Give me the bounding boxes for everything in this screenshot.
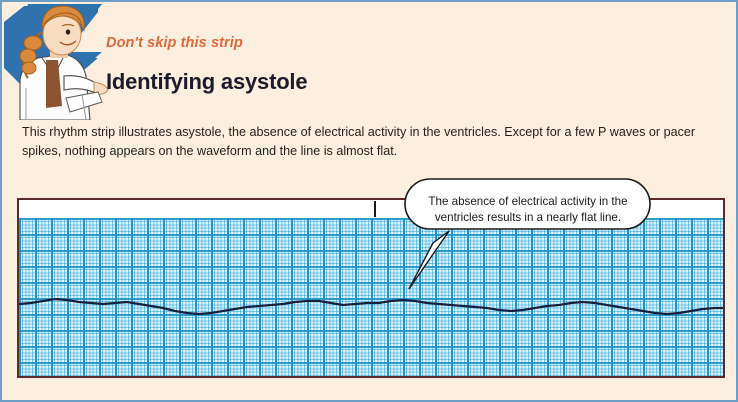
callout-text: The absence of electrical activity in th…: [417, 194, 639, 226]
nurse-with-clipboard-illustration: [2, 2, 114, 120]
page-container: Don't skip this strip Identifying asysto…: [0, 0, 738, 402]
page-title: Identifying asystole: [106, 69, 307, 95]
kicker-label: Don't skip this strip: [106, 35, 243, 51]
callout-line-2: ventricles results in a nearly flat line…: [417, 210, 639, 226]
body-paragraph: This rhythm strip illustrates asystole, …: [22, 123, 722, 161]
body-text: This rhythm strip illustrates asystole, …: [22, 123, 722, 161]
strip-time-marker: [374, 201, 376, 217]
callout-line-1: The absence of electrical activity in th…: [417, 194, 639, 210]
callout-bubble: The absence of electrical activity in th…: [403, 177, 653, 289]
